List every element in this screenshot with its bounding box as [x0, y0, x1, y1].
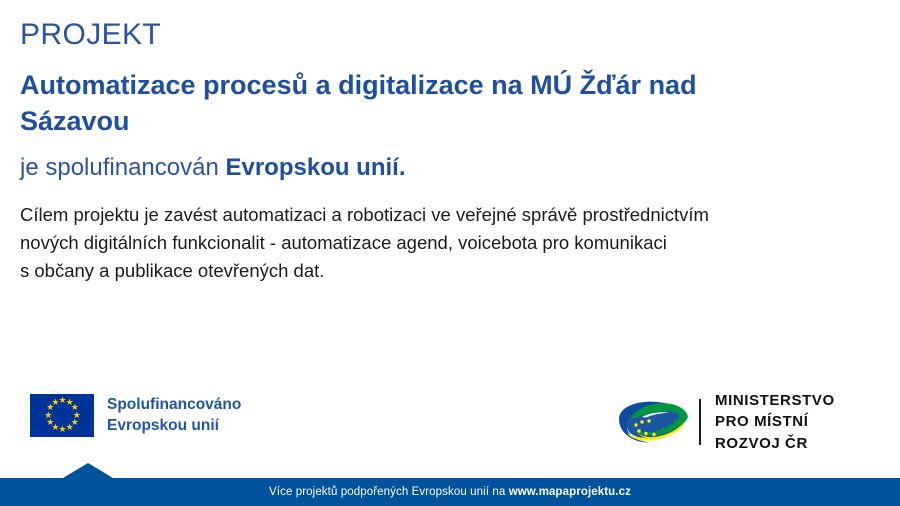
- description-line-1: Cílem projektu je zavést automatizaci a …: [20, 201, 870, 229]
- description-line-2: nových digitálních funkcionalit - automa…: [20, 229, 870, 257]
- cofinanced-emphasis: Evropskou unií.: [225, 154, 405, 181]
- eu-logo-text-line2: Evropskou unií: [107, 416, 241, 437]
- footer-text-prefix: Více projektů podpořených Evropskou unií…: [269, 486, 509, 498]
- footer-link-mapaprojektu[interactable]: www.mapaprojektu.cz: [509, 486, 631, 498]
- ministry-text-line1: MINISTERSTVO: [715, 390, 835, 411]
- footer-bar: Více projektů podpořených Evropskou unií…: [0, 478, 900, 506]
- ministry-logo: MINISTERSTVO PRO MÍSTNÍ ROZVOJ ČR: [616, 390, 835, 454]
- kicker-projekt: PROJEKT: [20, 18, 880, 52]
- ministry-text-line2: PRO MÍSTNÍ: [715, 411, 835, 432]
- footer-arrow-marker: [63, 463, 113, 478]
- page-title: Automatizace procesů a digitalizace na M…: [20, 68, 760, 140]
- eu-logo-text-line1: Spolufinancováno: [107, 395, 241, 416]
- mmr-swoosh-icon: [616, 396, 690, 448]
- cofinanced-prefix: je spolufinancován: [20, 154, 225, 181]
- footer-text: Více projektů podpořených Evropskou unií…: [0, 478, 900, 506]
- content-block: PROJEKT Automatizace procesů a digitaliz…: [20, 18, 880, 285]
- ministry-logo-divider: [699, 399, 701, 445]
- logo-row: ★★★★★★★★★★★★ Spolufinancováno Evropskou …: [0, 386, 900, 448]
- project-description: Cílem projektu je zavést automatizaci a …: [20, 201, 870, 284]
- ministry-text-line3: ROZVOJ ČR: [715, 433, 835, 454]
- eu-cofinancing-logo: ★★★★★★★★★★★★ Spolufinancováno Evropskou …: [30, 394, 241, 437]
- slide-root: PROJEKT Automatizace procesů a digitaliz…: [0, 0, 900, 506]
- eu-logo-text: Spolufinancováno Evropskou unií: [107, 395, 241, 436]
- description-line-3: s občany a publikace otevřených dat.: [20, 257, 870, 285]
- ministry-logo-text: MINISTERSTVO PRO MÍSTNÍ ROZVOJ ČR: [715, 390, 835, 454]
- eu-flag-icon: ★★★★★★★★★★★★: [30, 394, 94, 437]
- cofinanced-line: je spolufinancován Evropskou unií.: [20, 153, 880, 183]
